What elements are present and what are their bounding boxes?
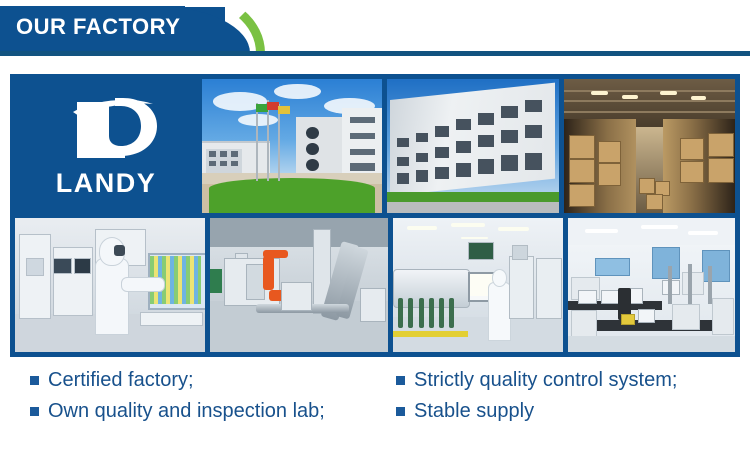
bullet-square-icon [396,376,405,385]
brand-name: LANDY [31,168,181,199]
bullet-square-icon [396,407,405,416]
list-item: Stable supply [396,397,741,425]
feature-text: Stable supply [414,397,534,425]
photo-office-building [387,79,559,213]
photo-canvas [210,218,388,352]
photo-canvas [564,79,735,213]
list-item: Strictly quality control system; [396,366,741,394]
photo-factory-exterior-flagpoles [202,79,382,213]
photo-canvas [202,79,382,213]
bullet-square-icon [30,407,39,416]
header-green-arc-icon [185,0,265,53]
factory-banner-page: OUR FACTORY LANDY [0,0,750,460]
feature-column-left: Certified factory; Own quality and inspe… [30,366,390,428]
feature-column-right: Strictly quality control system; Stable … [396,366,741,428]
logo-wrap: LANDY [31,94,181,199]
feature-text: Certified factory; [48,366,194,394]
photo-cleanroom-production [393,218,563,352]
photo-warehouse-storage [564,79,735,213]
list-item: Certified factory; [30,366,390,394]
photo-automated-production-line [210,218,388,352]
brand-logo-cell: LANDY [15,79,197,213]
photo-quality-control-laboratory [568,218,735,352]
photo-canvas [15,218,205,352]
list-item: Own quality and inspection lab; [30,397,390,425]
bullet-square-icon [30,376,39,385]
landy-monogram-icon [53,96,163,170]
photo-grid-row: LANDY [15,79,735,213]
photo-canvas [568,218,735,352]
photo-canvas [387,79,559,213]
page-title: OUR FACTORY [16,14,180,40]
header-arc-mask [185,0,280,7]
photo-grid-row [15,218,735,352]
photo-cleanroom-operator [15,218,205,352]
feature-text: Strictly quality control system; [414,366,677,394]
page-header: OUR FACTORY [0,0,750,58]
feature-text: Own quality and inspection lab; [48,397,325,425]
feature-list: Certified factory; Own quality and inspe… [0,366,750,456]
header-divider [0,51,750,56]
photo-panel: LANDY [10,74,740,357]
photo-grid: LANDY [15,79,735,352]
photo-canvas [393,218,563,352]
